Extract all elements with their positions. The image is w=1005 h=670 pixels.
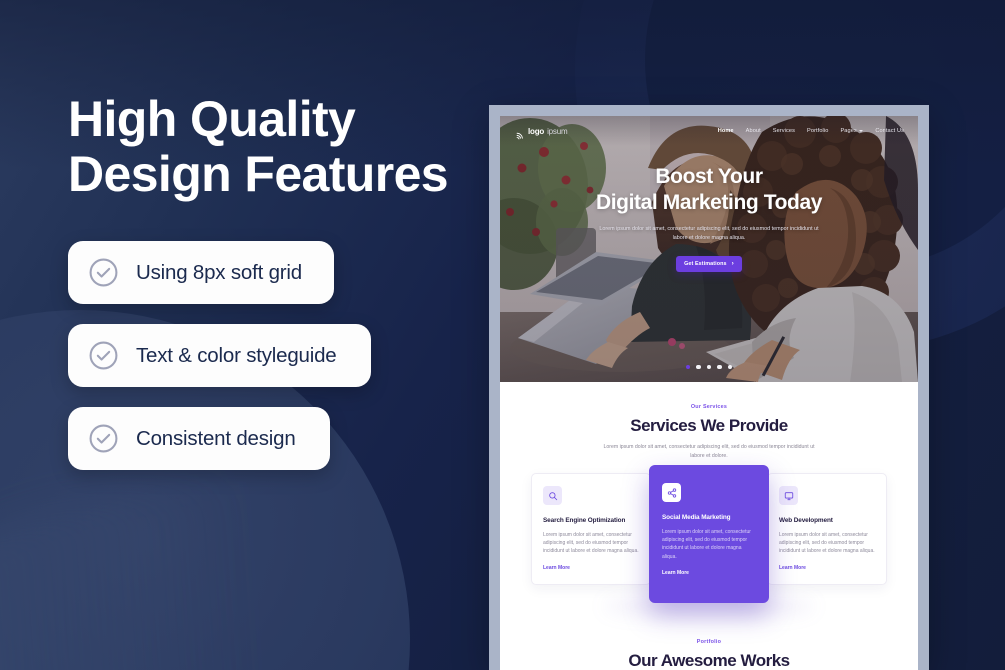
service-card-list: Search Engine Optimization Lorem ipsum d… — [518, 473, 900, 603]
headline-line-1: High Quality — [68, 91, 355, 147]
service-card-social-media[interactable]: Social Media Marketing Lorem ipsum dolor… — [649, 465, 769, 603]
nav-link-contact-us[interactable]: Contact Us — [875, 128, 904, 134]
mockup-services-section: Our Services Services We Provide Lorem i… — [500, 382, 918, 603]
carousel-dot-3[interactable] — [707, 365, 711, 369]
mockup-portfolio-section: Portfolio Our Awesome Works — [500, 639, 918, 670]
service-card-body: Lorem ipsum dolor sit amet, consectetur … — [662, 528, 756, 561]
hero-title-line-2: Digital Marketing Today — [500, 190, 918, 216]
get-estimations-label: Get Estimations — [684, 261, 727, 267]
service-card-web-development[interactable]: Web Development Lorem ipsum dolor sit am… — [767, 473, 887, 585]
service-card-seo[interactable]: Search Engine Optimization Lorem ipsum d… — [531, 473, 651, 585]
mockup-nav-links: Home About Services Portfolio Pages Cont… — [718, 128, 904, 134]
website-mockup-frame: logo ipsum Home About Services Portfolio… — [489, 105, 929, 670]
feature-card-label: Using 8px soft grid — [136, 261, 302, 285]
get-estimations-button[interactable]: Get Estimations › — [676, 256, 742, 272]
chevron-down-icon — [859, 130, 863, 132]
services-subtitle: Lorem ipsum dolor sit amet, consectetur … — [603, 443, 815, 460]
hero-title-line-1: Boost Your — [500, 164, 918, 190]
check-circle-icon — [88, 340, 119, 371]
logo-text-primary: logo — [528, 127, 544, 136]
hero-carousel-dots — [500, 365, 918, 369]
service-card-learn-more-link[interactable]: Learn More — [779, 565, 875, 571]
carousel-dot-1[interactable] — [686, 365, 690, 369]
mockup-hero-section: logo ipsum Home About Services Portfolio… — [500, 116, 918, 382]
nav-link-services[interactable]: Services — [773, 128, 795, 134]
carousel-dot-5[interactable] — [728, 365, 732, 369]
service-card-title: Social Media Marketing — [662, 514, 756, 521]
left-content-column: High Quality Design Features Using 8px s… — [0, 0, 470, 670]
service-card-body: Lorem ipsum dolor sit amet, consectetur … — [779, 531, 875, 556]
nav-link-portfolio[interactable]: Portfolio — [807, 128, 828, 134]
service-card-title: Search Engine Optimization — [543, 517, 639, 524]
feature-card-soft-grid[interactable]: Using 8px soft grid — [68, 241, 334, 304]
service-card-body: Lorem ipsum dolor sit amet, consectetur … — [543, 531, 639, 556]
headline-line-2: Design Features — [68, 147, 448, 202]
logoipsum-mark-icon — [516, 127, 525, 136]
portfolio-eyebrow: Portfolio — [500, 639, 918, 645]
page-title: High Quality Design Features — [68, 92, 448, 202]
feature-card-styleguide[interactable]: Text & color styleguide — [68, 324, 371, 387]
check-circle-icon — [88, 423, 119, 454]
monitor-icon — [779, 486, 798, 505]
feature-card-consistent-design[interactable]: Consistent design — [68, 407, 330, 470]
feature-card-label: Text & color styleguide — [136, 344, 337, 368]
nav-link-about[interactable]: About — [746, 128, 761, 134]
share-icon — [662, 483, 681, 502]
portfolio-title: Our Awesome Works — [500, 651, 918, 670]
hero-title: Boost Your Digital Marketing Today — [500, 164, 918, 216]
carousel-dot-2[interactable] — [696, 365, 700, 369]
chevron-right-icon: › — [732, 261, 734, 268]
services-title: Services We Provide — [518, 416, 900, 436]
service-card-learn-more-link[interactable]: Learn More — [543, 565, 639, 571]
search-icon — [543, 486, 562, 505]
logo-text-secondary: ipsum — [547, 127, 567, 136]
services-eyebrow: Our Services — [518, 404, 900, 410]
check-circle-icon — [88, 257, 119, 288]
nav-link-pages-label: Pages — [840, 128, 856, 134]
service-card-learn-more-link[interactable]: Learn More — [662, 570, 756, 576]
carousel-dot-4[interactable] — [717, 365, 721, 369]
feature-card-label: Consistent design — [136, 427, 296, 451]
nav-link-home[interactable]: Home — [718, 128, 734, 134]
service-card-title: Web Development — [779, 517, 875, 524]
site-logo[interactable]: logo ipsum — [516, 127, 567, 136]
website-mockup-page: logo ipsum Home About Services Portfolio… — [500, 116, 918, 670]
feature-card-list: Using 8px soft grid Text & color stylegu… — [68, 241, 371, 490]
hero-content: Boost Your Digital Marketing Today Lorem… — [500, 164, 918, 272]
hero-paragraph: Lorem ipsum dolor sit amet, consectetur … — [594, 225, 824, 243]
nav-link-pages[interactable]: Pages — [840, 128, 863, 134]
mockup-navbar: logo ipsum Home About Services Portfolio… — [500, 116, 918, 146]
